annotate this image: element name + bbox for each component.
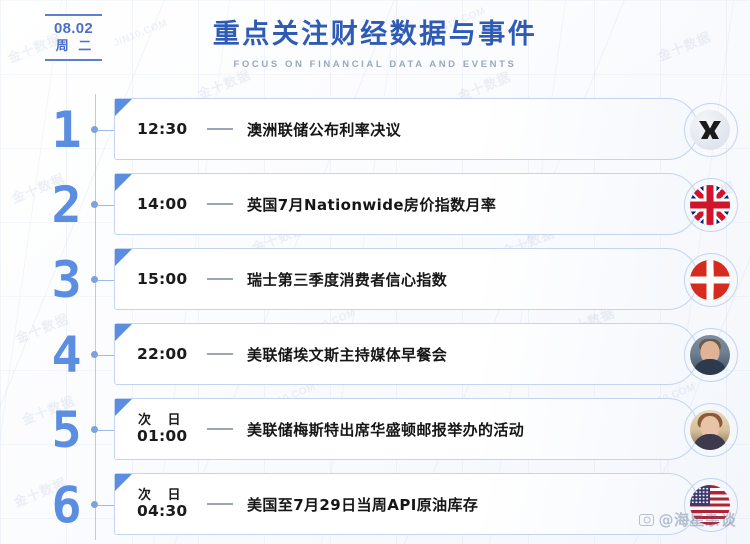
event-time-value: 12:30 xyxy=(137,119,207,139)
event-row[interactable]: 1 12:30 澳洲联储公布利率决议 xyxy=(0,92,750,167)
event-title: 美联储埃文斯主持媒体早餐会 xyxy=(247,344,697,365)
event-row[interactable]: 2 14:00 英国7月Nationwide房价指数月率 xyxy=(0,167,750,242)
event-card[interactable]: 次 日 04:30 美国至7月29日当周API原油库存 xyxy=(114,473,698,535)
timeline-dot xyxy=(91,426,98,433)
separator-dash xyxy=(207,353,233,355)
event-time: 22:00 xyxy=(115,344,207,364)
rank-number: 2 xyxy=(42,180,90,230)
timeline-connector xyxy=(98,205,114,206)
event-time: 次 日 01:00 xyxy=(115,413,207,445)
rank-number: 5 xyxy=(42,405,90,455)
rank-number: 3 xyxy=(42,255,90,305)
header: 08.02 周 二 重点关注财经数据与事件 FOCUS ON FINANCIAL… xyxy=(0,0,750,92)
event-time-value: 04:30 xyxy=(137,503,207,520)
event-day-label: 次 日 xyxy=(137,488,207,503)
event-row[interactable]: 4 22:00 美联储埃文斯主持媒体早餐会 xyxy=(0,317,750,392)
timeline-dot xyxy=(91,501,98,508)
card-corner-marker xyxy=(115,324,132,341)
uk-flag-icon xyxy=(690,185,730,225)
event-title: 美联储梅斯特出席华盛顿邮报举办的活动 xyxy=(247,419,697,440)
timeline-connector xyxy=(98,505,114,506)
switzerland-flag-icon xyxy=(690,260,730,300)
camera-icon xyxy=(639,514,654,526)
card-corner-marker xyxy=(115,99,132,116)
timeline-dot xyxy=(91,276,98,283)
event-title: 澳洲联储公布利率决议 xyxy=(247,119,697,140)
page-subtitle: FOCUS ON FINANCIAL DATA AND EVENTS xyxy=(0,59,750,71)
event-time: 12:30 xyxy=(115,119,207,139)
rba-logo-icon xyxy=(690,110,730,150)
timeline-dot xyxy=(91,201,98,208)
separator-dash xyxy=(207,278,233,280)
event-time-value: 14:00 xyxy=(137,194,207,214)
card-corner-marker xyxy=(115,174,132,191)
separator-dash xyxy=(207,428,233,430)
page-title: 重点关注财经数据与事件 xyxy=(0,18,750,52)
timeline-connector xyxy=(98,355,114,356)
separator-dash xyxy=(207,503,233,505)
person-avatar-mester xyxy=(690,410,730,450)
person-avatar-evans xyxy=(690,335,730,375)
event-title: 瑞士第三季度消费者信心指数 xyxy=(247,269,697,290)
rank-number: 1 xyxy=(42,105,90,155)
timeline-dot xyxy=(91,351,98,358)
event-row[interactable]: 5 次 日 01:00 美联储梅斯特出席华盛顿邮报举办的活动 xyxy=(0,392,750,467)
event-card[interactable]: 次 日 01:00 美联储梅斯特出席华盛顿邮报举办的活动 xyxy=(114,398,698,460)
card-corner-marker xyxy=(115,399,132,416)
timeline-connector xyxy=(98,280,114,281)
card-corner-marker xyxy=(115,249,132,266)
event-time: 14:00 xyxy=(115,194,207,214)
event-time: 15:00 xyxy=(115,269,207,289)
event-time-value: 15:00 xyxy=(137,269,207,289)
rank-number: 6 xyxy=(42,480,90,530)
corner-watermark-text: @海星杂谈 xyxy=(658,509,736,530)
event-time: 次 日 04:30 xyxy=(115,488,207,520)
separator-dash xyxy=(207,203,233,205)
timeline-connector xyxy=(98,130,114,131)
timeline-dot xyxy=(91,126,98,133)
event-row[interactable]: 3 15:00 瑞士第三季度消费者信心指数 xyxy=(0,242,750,317)
event-time-value: 01:00 xyxy=(137,428,207,445)
title-block: 重点关注财经数据与事件 FOCUS ON FINANCIAL DATA AND … xyxy=(0,18,750,71)
event-time-value: 22:00 xyxy=(137,344,207,364)
event-card[interactable]: 14:00 英国7月Nationwide房价指数月率 xyxy=(114,173,698,235)
infographic-page: 金十数据 JIN10.COM JIN10.COM 金十数据 金十数据 金十数据 … xyxy=(0,0,750,544)
corner-watermark: @海星杂谈 xyxy=(639,509,736,530)
event-card[interactable]: 22:00 美联储埃文斯主持媒体早餐会 xyxy=(114,323,698,385)
event-card[interactable]: 12:30 澳洲联储公布利率决议 xyxy=(114,98,698,160)
event-row[interactable]: 6 次 日 04:30 美国至7月29日当周API原油库存 xyxy=(0,467,750,542)
timeline-connector xyxy=(98,430,114,431)
card-corner-marker xyxy=(115,474,132,491)
event-card[interactable]: 15:00 瑞士第三季度消费者信心指数 xyxy=(114,248,698,310)
event-title: 英国7月Nationwide房价指数月率 xyxy=(247,194,697,215)
separator-dash xyxy=(207,128,233,130)
event-title: 美国至7月29日当周API原油库存 xyxy=(247,494,697,515)
rank-number: 4 xyxy=(42,330,90,380)
event-day-label: 次 日 xyxy=(137,413,207,428)
events-timeline: 1 12:30 澳洲联储公布利率决议 2 xyxy=(0,92,750,544)
